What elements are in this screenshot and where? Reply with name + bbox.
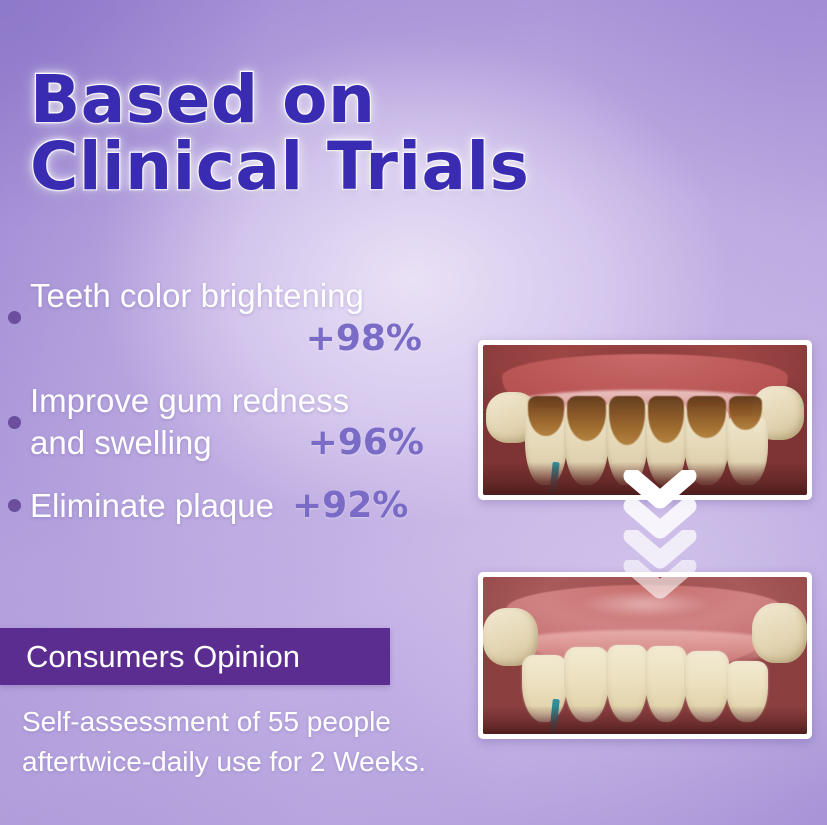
bullet-dot-icon [8, 416, 21, 429]
benefit-label-line-2: and swelling [30, 423, 212, 463]
consumers-opinion-banner: Consumers Opinion [0, 628, 390, 685]
benefit-item-teeth-brightening: Teeth color brightening +98% [0, 276, 470, 359]
headline-line-1: Based on [30, 68, 529, 133]
benefit-label-line-1: Improve gum redness [30, 381, 470, 421]
page-title: Based on Clinical Trials [30, 68, 529, 199]
before-photo-image [483, 345, 807, 495]
headline-line-2: Clinical Trials [30, 135, 529, 200]
bullet-dot-icon [8, 499, 21, 512]
mouth-shadow-after [483, 706, 807, 734]
chevron-down-icon [622, 500, 698, 546]
bullet-dot-icon [8, 311, 21, 324]
consumers-opinion-label: Consumers Opinion [0, 639, 300, 675]
gum-highlight [580, 590, 710, 618]
benefit-label: Eliminate plaque [30, 486, 274, 526]
molar-right [752, 603, 807, 663]
clinical-trials-poster: Based on Clinical Trials Teeth color bri… [0, 0, 827, 825]
benefit-label: Teeth color brightening [30, 276, 470, 316]
benefit-percent: +96% [308, 422, 470, 463]
benefit-item-eliminate-plaque: Eliminate plaque +92% [0, 485, 470, 526]
chevron-down-icon [622, 530, 698, 576]
consumers-opinion-note: Self-assessment of 55 people aftertwice-… [22, 702, 426, 782]
benefit-percent: +92% [292, 485, 408, 526]
benefit-percent: +98% [30, 318, 470, 359]
benefit-item-gum-redness: Improve gum redness and swelling +96% [0, 381, 470, 463]
after-photo-frame [478, 572, 812, 739]
after-photo-image [483, 577, 807, 734]
mouth-shadow-before [483, 462, 807, 495]
benefits-list: Teeth color brightening +98% Improve gum… [0, 276, 470, 548]
before-photo-frame [478, 340, 812, 500]
